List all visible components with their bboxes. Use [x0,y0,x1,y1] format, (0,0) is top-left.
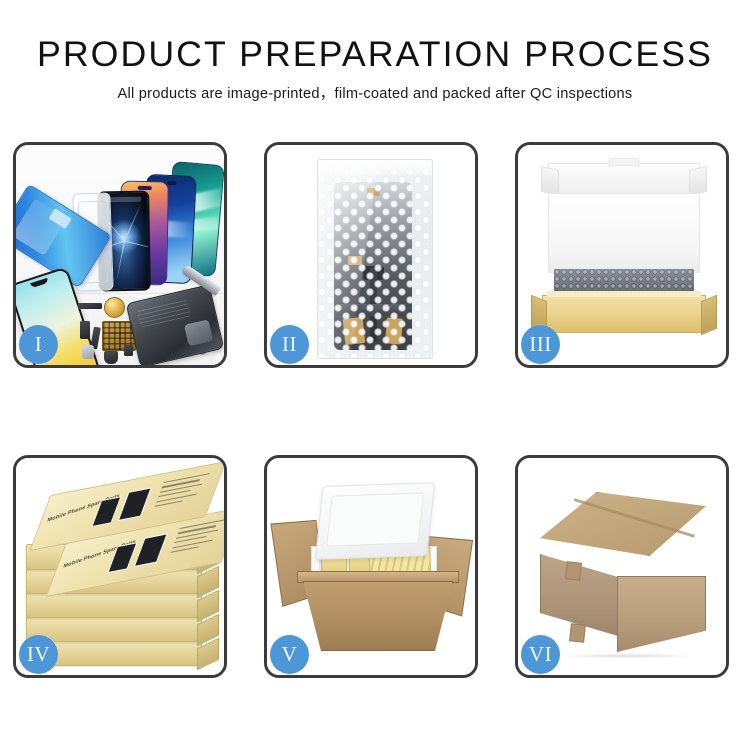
carton-right-face [617,576,706,652]
part-connector-icon [80,321,90,339]
bag-fold [318,160,432,176]
step-panel-2: II [264,142,478,368]
box-front-wall [542,295,706,333]
part-button-icon [124,345,133,356]
part-sim-tray-icon [82,345,94,359]
vibration-motor-icon [104,297,125,318]
product-preparation-infographic: PRODUCT PREPARATION PROCESS All products… [0,0,750,750]
page-subtitle: All products are image-printed，film-coat… [0,82,750,103]
carton-front-wall [303,581,453,651]
step-panel-6: VI [515,455,729,678]
box-stack-icon: Mobile Phone Spare Parts Mobile Phone Sp… [22,480,222,666]
part-speaker-icon [78,303,102,309]
carton-top-face [540,492,706,556]
step-badge-6: VI [521,635,560,674]
process-steps-grid: I [13,142,737,678]
phone-back-housing-icon [126,284,224,365]
tape-patch-top-icon [565,561,582,580]
step-badge-4: IV [19,635,58,674]
step-panel-1: I [13,142,227,368]
step-panel-5: V [264,455,478,678]
step-badge-5: V [270,635,309,674]
step-badge-3: III [521,325,560,364]
step-panel-4: Mobile Phone Spare Parts Mobile Phone Sp… [13,455,227,678]
carton-shadow [558,653,698,659]
box-lid-icon [548,163,700,197]
step-panel-3: III [515,142,729,368]
page-title: PRODUCT PREPARATION PROCESS [0,34,750,76]
header: PRODUCT PREPARATION PROCESS All products… [0,0,750,103]
box-back-wall [548,193,700,273]
foam-lid-icon [315,482,435,560]
step-badge-2: II [270,325,309,364]
part-taptic-icon [104,351,118,364]
bubble-wrap-bag-icon [317,159,433,359]
step-badge-1: I [19,325,58,364]
tape-patch-bottom-icon [569,623,586,642]
